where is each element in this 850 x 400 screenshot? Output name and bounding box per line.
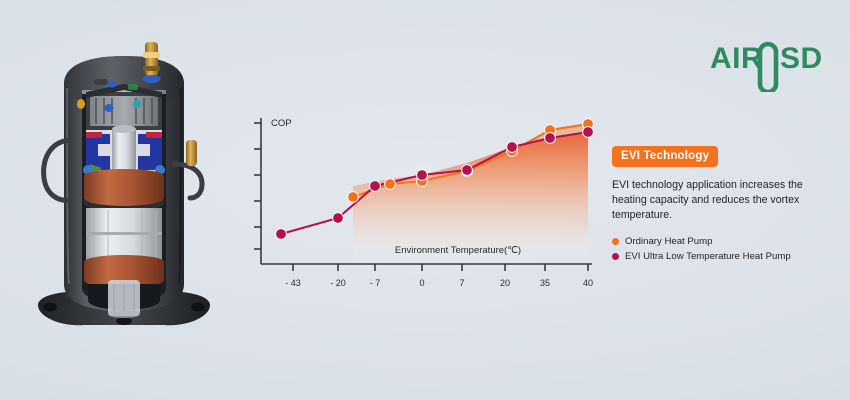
legend-label: Ordinary Heat Pump (625, 236, 712, 247)
compressor-motor-winding-upper (84, 169, 164, 211)
product-image-rotary-compressor (24, 22, 224, 352)
brand-logo-airosd: AIR SD (710, 38, 828, 92)
legend-item: EVI Ultra Low Temperature Heat Pump (612, 251, 828, 262)
compressor-pump-cutaway (83, 125, 165, 176)
compressor-rotor-stack (86, 208, 162, 262)
logo-text-post: SD (780, 42, 823, 75)
x-tick-label: 40 (583, 278, 593, 288)
legend-item: Ordinary Heat Pump (612, 236, 828, 247)
chart-x-ticks (293, 264, 588, 271)
panel-description: EVI technology application increases the… (612, 178, 808, 223)
info-panel: EVI Technology EVI technology applicatio… (612, 146, 828, 266)
chart-legend: Ordinary Heat Pump EVI Ultra Low Tempera… (612, 236, 828, 262)
legend-label: EVI Ultra Low Temperature Heat Pump (625, 251, 791, 262)
data-point (385, 179, 396, 190)
x-tick-label: - 20 (330, 278, 346, 288)
data-point (348, 192, 359, 203)
data-point (417, 170, 428, 181)
data-point (507, 142, 518, 153)
x-tick-label: - 43 (285, 278, 301, 288)
data-point (583, 127, 594, 138)
evi-technology-badge: EVI Technology (612, 146, 718, 167)
legend-dot-ordinary-icon (612, 238, 619, 245)
chart-y-ticks (254, 123, 261, 249)
chart-x-axis-label: Environment Temperature(℃) (395, 245, 521, 256)
top-connector (107, 81, 117, 88)
x-tick-label: 35 (540, 278, 550, 288)
data-point (276, 229, 287, 240)
data-point (462, 165, 473, 176)
x-tick-label: - 7 (370, 278, 381, 288)
infographic-canvas: COP Environment Temperature(℃) - 43 - 20… (0, 0, 850, 400)
cop-vs-temperature-chart: COP Environment Temperature(℃) - 43 - 20… (240, 108, 610, 298)
data-point (370, 181, 381, 192)
logo-text-pre: AIR (710, 42, 763, 75)
data-point (545, 133, 556, 144)
x-tick-label: 0 (419, 278, 424, 288)
brass-port-right (186, 140, 197, 166)
legend-dot-evi-icon (612, 253, 619, 260)
chart-y-axis-label: COP (271, 118, 292, 129)
chart-area-fill-evi (353, 132, 588, 263)
brass-port-top (143, 42, 161, 83)
x-tick-label: 20 (500, 278, 510, 288)
data-point (333, 213, 344, 224)
x-tick-label: 7 (459, 278, 464, 288)
